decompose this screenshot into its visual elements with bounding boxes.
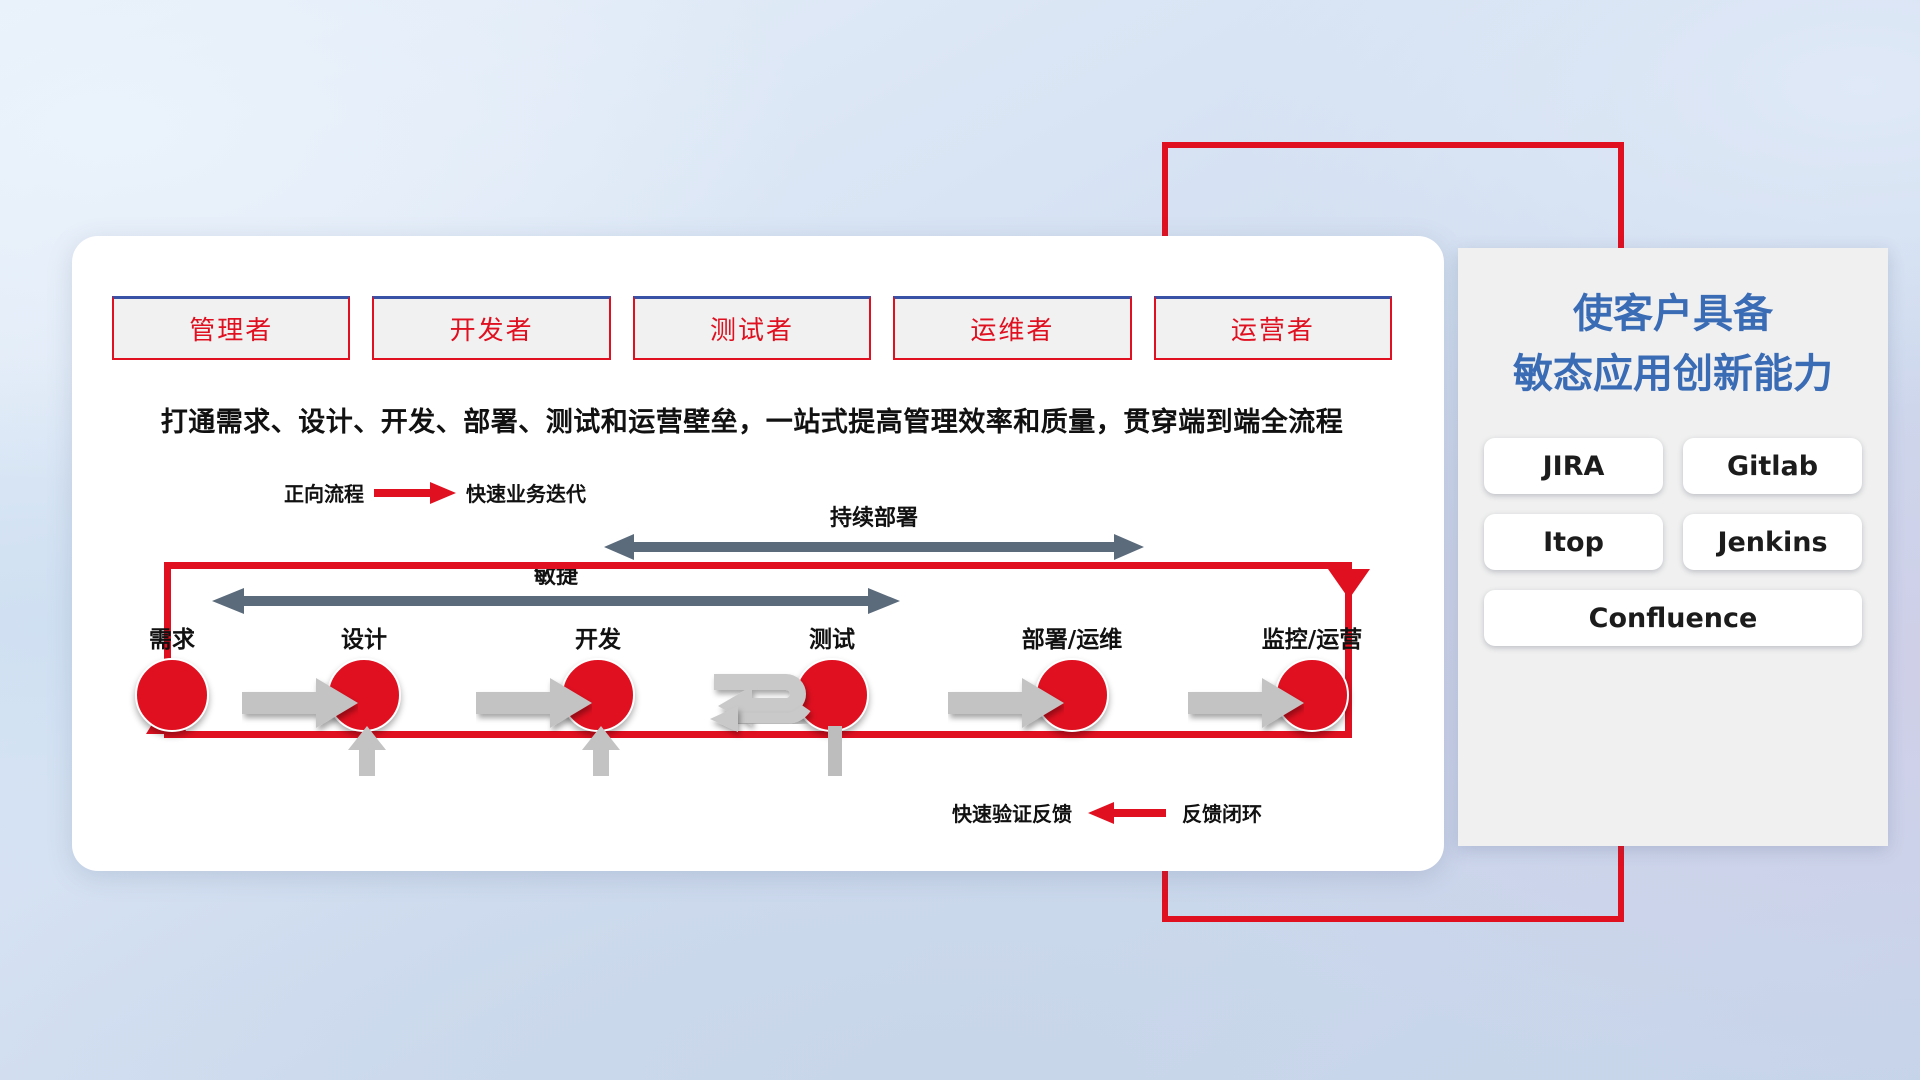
feedback-legend: 快速验证反馈 反馈闭环: [952, 798, 1262, 827]
feed-down-connector-icon: [816, 726, 854, 776]
tool-chip-itop[interactable]: Itop: [1484, 514, 1663, 570]
double-headed-arrow-icon: [212, 588, 900, 614]
stage-label: 开发: [538, 620, 658, 654]
arrow-right-icon: [1188, 676, 1304, 732]
role-box-row: 管理者 开发者 测试者 运维者 运营者: [112, 296, 1392, 360]
loop-arrow-icon: [708, 670, 824, 744]
outer-loop-bottom-segment: [1162, 916, 1624, 922]
role-box-developer[interactable]: 开发者: [372, 296, 610, 360]
tool-chip-jenkins[interactable]: Jenkins: [1683, 514, 1862, 570]
role-label: 运维者: [970, 310, 1054, 347]
inner-loop-top-segment: [164, 562, 1352, 569]
tool-chip-confluence[interactable]: Confluence: [1484, 590, 1862, 646]
pipeline: 需求 设计 开发 测试 部署/运维 监控/运营: [112, 620, 1392, 740]
role-box-operator[interactable]: 运营者: [1154, 296, 1392, 360]
role-label: 管理者: [189, 310, 273, 347]
forward-flow-legend: 正向流程 快速业务迭代: [284, 478, 586, 507]
value-panel: 使客户具备 敏态应用创新能力 JIRA Gitlab Itop Jenkins …: [1458, 248, 1888, 846]
role-label: 开发者: [450, 310, 534, 347]
role-box-ops[interactable]: 运维者: [893, 296, 1131, 360]
outer-loop-left-upper-segment: [1162, 142, 1168, 242]
outer-loop-top-segment: [1162, 142, 1624, 148]
right-arrow-icon: [374, 482, 456, 504]
stage-label: 部署/运维: [1012, 620, 1132, 654]
slide-background: 管理者 开发者 测试者 运维者 运营者 打通需求、设计、开发、部署、测试和运营壁…: [0, 0, 1920, 1080]
forward-flow-label: 正向流程: [284, 478, 364, 507]
panel-title: 使客户具备 敏态应用创新能力: [1458, 284, 1888, 404]
continuous-deployment-span: 持续部署: [604, 500, 1144, 560]
panel-title-line2: 敏态应用创新能力: [1458, 344, 1888, 404]
continuous-deployment-label: 持续部署: [604, 500, 1144, 532]
feedback-loop-label: 反馈闭环: [1182, 798, 1262, 827]
tool-chip-gitlab[interactable]: Gitlab: [1683, 438, 1862, 494]
stage-label: 测试: [772, 620, 892, 654]
double-headed-arrow-icon: [604, 534, 1144, 560]
role-box-tester[interactable]: 测试者: [633, 296, 871, 360]
feed-up-arrow-icon: [582, 726, 620, 776]
arrow-right-icon: [948, 676, 1064, 732]
inner-loop-down-arrowhead-icon: [1328, 565, 1370, 599]
stage-dot: [135, 658, 209, 732]
arrow-right-icon: [242, 676, 358, 732]
stage-label: 需求: [112, 620, 232, 654]
role-box-manager[interactable]: 管理者: [112, 296, 350, 360]
pipeline-stage-requirements[interactable]: 需求: [112, 620, 232, 732]
tool-list: JIRA Gitlab Itop Jenkins Confluence: [1484, 438, 1862, 646]
stage-label: 设计: [304, 620, 424, 654]
fast-validation-feedback-label: 快速验证反馈: [952, 798, 1072, 827]
fast-business-iteration-label: 快速业务迭代: [466, 478, 586, 507]
arrow-right-icon: [476, 676, 592, 732]
tool-chip-jira[interactable]: JIRA: [1484, 438, 1663, 494]
headline-text: 打通需求、设计、开发、部署、测试和运营壁垒，一站式提高管理效率和质量，贯穿端到端…: [112, 400, 1392, 439]
stage-label: 监控/运营: [1252, 620, 1372, 654]
panel-title-line1: 使客户具备: [1458, 284, 1888, 344]
feed-up-arrow-icon: [348, 726, 386, 776]
role-label: 测试者: [710, 310, 794, 347]
role-label: 运营者: [1231, 310, 1315, 347]
left-arrow-icon: [1088, 802, 1166, 824]
